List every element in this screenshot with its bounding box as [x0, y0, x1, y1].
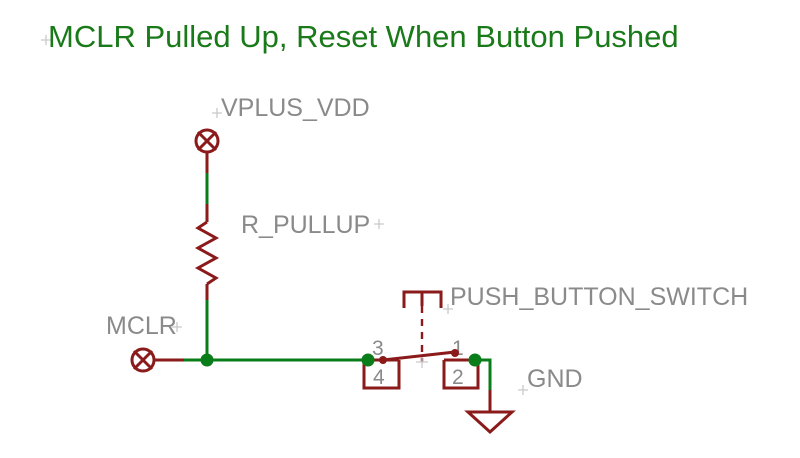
switch-pin-number-2: 2: [452, 366, 464, 389]
switch-pin-number-4: 4: [373, 366, 385, 389]
port-circle-x-icon[interactable]: [132, 349, 154, 371]
resistor-zigzag-icon: [198, 222, 216, 284]
ground-label: GND: [527, 365, 583, 393]
resistor-label: R_PULLUP: [241, 211, 370, 239]
switch-contact-left: [379, 356, 387, 364]
port-circle-x-icon[interactable]: [196, 130, 218, 152]
ground-group[interactable]: GND: [468, 365, 583, 432]
page-title: MCLR Pulled Up, Reset When Button Pushed: [48, 19, 679, 54]
switch-contact-right: [451, 349, 459, 357]
switch-label: PUSH_BUTTON_SWITCH: [450, 283, 748, 311]
ground-triangle-icon: [468, 412, 512, 432]
mclr-port-label: MCLR: [106, 312, 177, 340]
resistor-group[interactable]: R_PULLUP: [198, 204, 384, 302]
anchor-cross-icon: [416, 356, 428, 368]
junction-dot: [201, 354, 214, 367]
mclr-port-group[interactable]: MCLR: [106, 312, 186, 371]
junction-dot: [362, 354, 375, 367]
title-group: MCLR Pulled Up, Reset When Button Pushed: [41, 19, 679, 54]
anchor-cross-icon: [374, 219, 384, 229]
schematic-drawing: MCLR Pulled Up, Reset When Button Pushed…: [0, 0, 800, 458]
schematic-canvas: MCLR Pulled Up, Reset When Button Pushed…: [0, 0, 800, 458]
power-port-label: VPLUS_VDD: [221, 94, 370, 122]
power-port-group[interactable]: VPLUS_VDD: [196, 94, 370, 175]
